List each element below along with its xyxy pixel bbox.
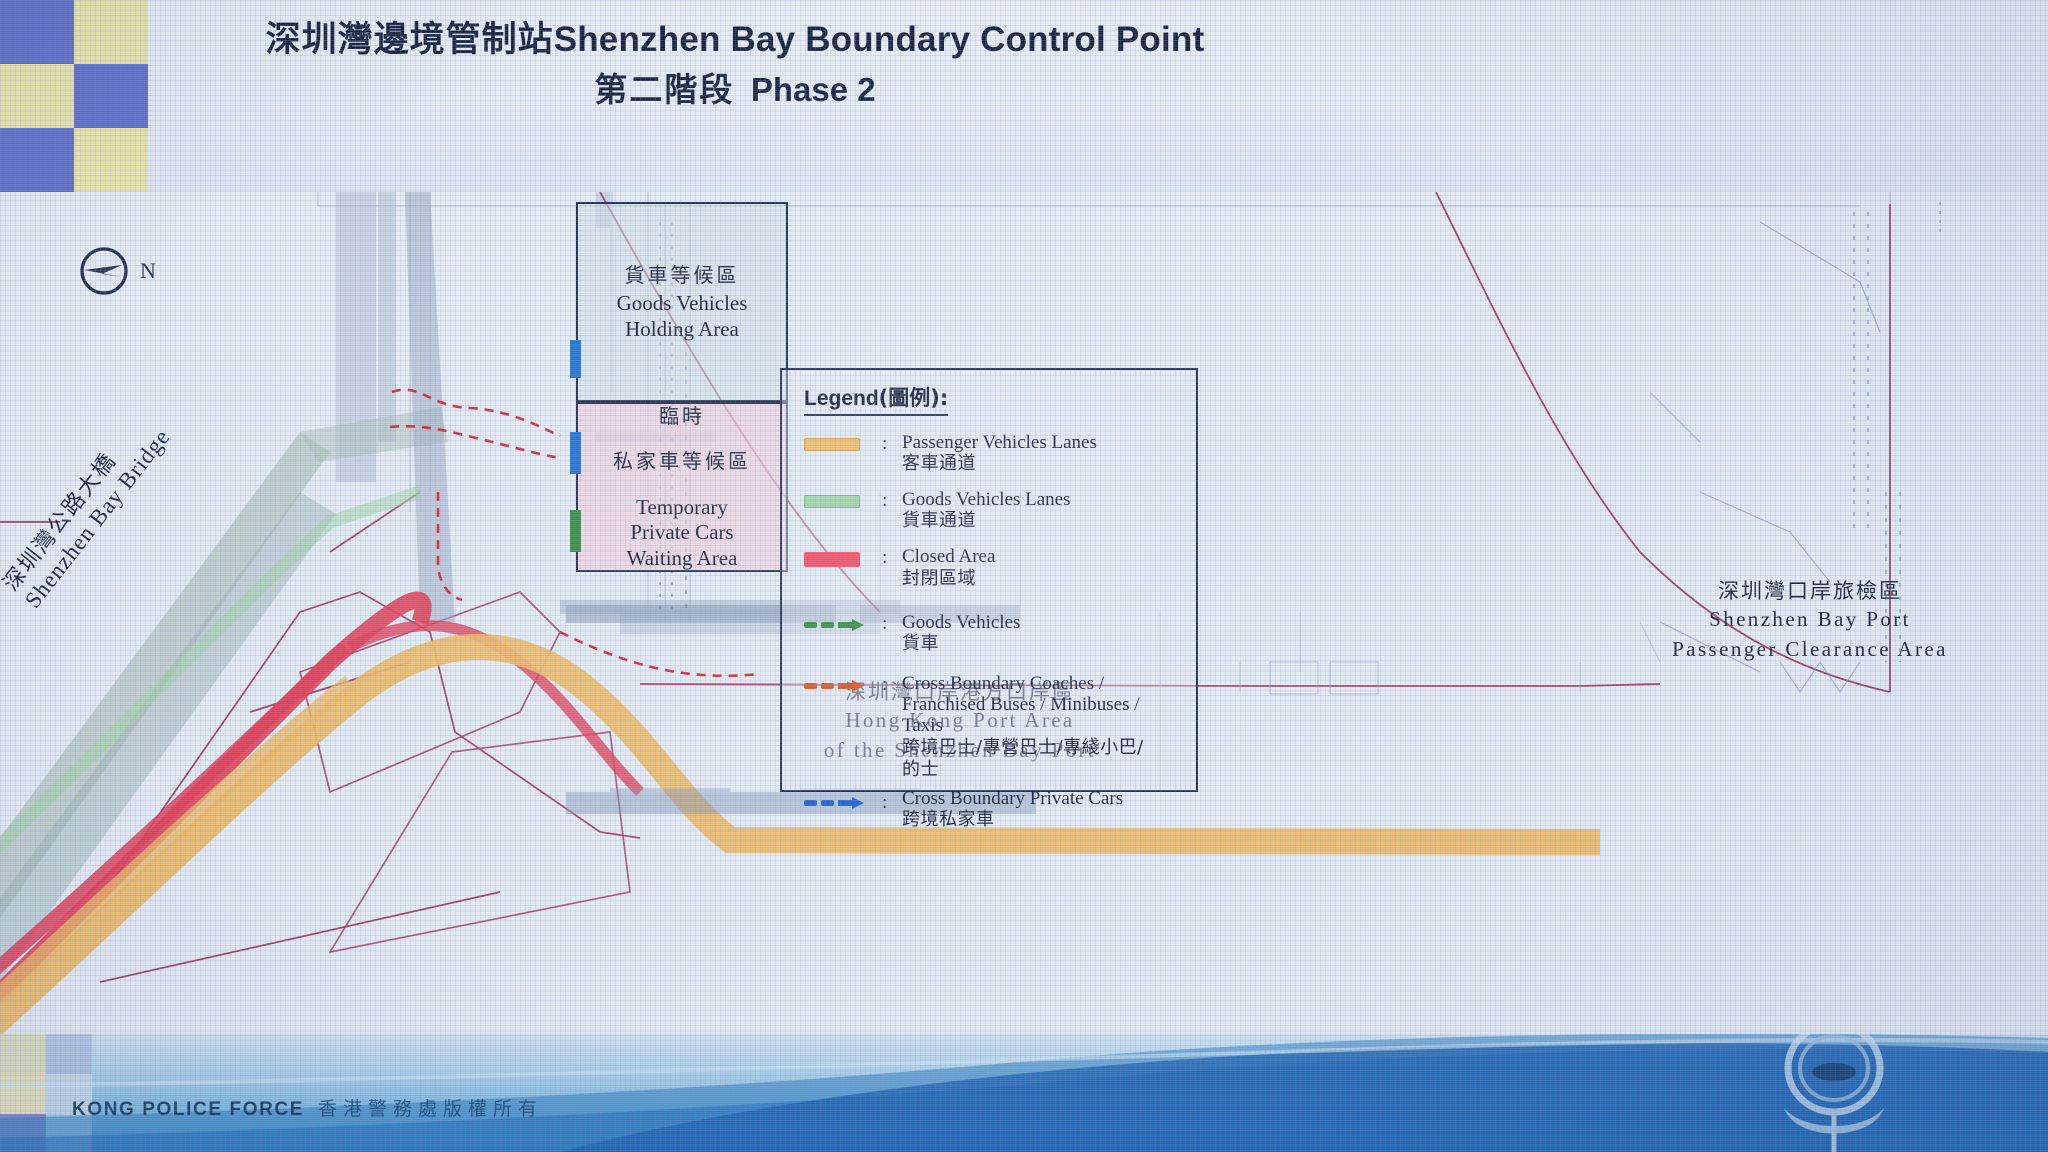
legend-box: Legend(圖例): : Passenger Vehicles Lanes 客… [780,368,1198,792]
legend-cn: 封閉區域 [902,568,1196,590]
legend-en: Goods Vehicles Lanes [902,489,1196,510]
legend-en: Goods Vehicles [902,612,1196,633]
szport-label-cn: 深圳灣口岸旅檢區 [1560,577,2048,605]
legend-item-cross-boundary-private-cars[interactable]: : Cross Boundary Private Cars 跨境私家車 [796,788,1196,831]
legend-colon: : [882,489,902,512]
legend-swatch-cell [796,489,882,508]
legend-cn: 貨車通道 [902,510,1196,532]
swatch-goods-lane [804,495,860,508]
gate-marker-blue-1 [570,340,581,378]
map-diagram: N 貨車等候區 Goods Vehicles Holding Area 臨時 私… [0,192,2048,1034]
swatch-passenger-lane [804,438,860,451]
legend-cn: 客車通道 [902,453,1196,475]
legend-swatch-cell [796,612,882,632]
legend-en-1: Cross Boundary Coaches / [902,673,1196,694]
legend-swatch-cell [796,546,882,567]
zone-goods-label-en-2: Holding Area [625,317,739,343]
legend-swatch-cell [796,432,882,451]
legend-cn: 跨境私家車 [902,809,1196,831]
legend-item-goods-vehicles-lanes[interactable]: : Goods Vehicles Lanes 貨車通道 [796,489,1196,532]
legend-text: Cross Boundary Private Cars 跨境私家車 [902,788,1196,831]
legend-swatch-cell [796,788,882,810]
legend-en-3: Taxis [902,715,1196,736]
legend-en: Passenger Vehicles Lanes [902,432,1196,453]
legend-cn-1: 跨境巴士/專營巴士/專綫小巴/ [902,737,1196,759]
arrow-icon-cross-boundary-private-cars [804,796,866,810]
legend-item-cross-boundary-coaches[interactable]: : Cross Boundary Coaches / Franchised Bu… [796,673,1196,781]
slide-canvas: 深圳灣邊境管制站Shenzhen Bay Boundary Control Po… [0,0,2048,1152]
legend-colon: : [882,432,902,455]
szport-label-en-2: Passenger Clearance Area [1560,635,2048,664]
header-band: 深圳灣邊境管制站Shenzhen Bay Boundary Control Po… [0,0,2048,192]
gate-marker-green-1 [570,510,581,552]
legend-colon: : [882,612,902,635]
legend-cn-2: 的士 [902,759,1196,781]
zone-goods-label-en-1: Goods Vehicles [617,291,748,317]
footer-wave-graphic [0,1034,2048,1152]
phase-english: Phase 2 [751,71,876,108]
police-crest-badge-icon [1744,1034,1924,1152]
zone-private-label-en-3: Waiting Area [627,546,738,572]
legend-text: Cross Boundary Coaches / Franchised Buse… [902,673,1196,781]
zone-private-label-cn-2: 私家車等候區 [613,448,751,475]
label-shenzhen-bay-port-passenger-clearance-area: 深圳灣口岸旅檢區 Shenzhen Bay Port Passenger Cle… [1560,577,2048,664]
legend-text: Passenger Vehicles Lanes 客車通道 [902,432,1196,475]
legend-title: Legend(圖例): [804,382,948,416]
legend-item-closed-area[interactable]: : Closed Area 封閉區域 [796,546,1196,589]
legend-item-goods-vehicles-arrow[interactable]: : Goods Vehicles 貨車 [796,612,1196,655]
legend-text: Goods Vehicles 貨車 [902,612,1196,655]
copyright-org-cn: 香港警務處版權所有 [318,1098,543,1120]
legend-title-cn: (圖例): [879,386,949,410]
legend-en-2: Franchised Buses / Minibuses / [902,694,1196,715]
gate-marker-blue-2 [570,432,581,474]
legend-text: Goods Vehicles Lanes 貨車通道 [902,489,1196,532]
arrow-icon-cross-boundary-coaches [804,679,866,693]
legend-text: Closed Area 封閉區域 [902,546,1196,589]
legend-title-en: Legend [804,387,879,410]
compass-label: N [140,258,156,284]
copyright-notice: KONG POLICE FORCE香港警務處版權所有 [72,1094,543,1121]
legend-colon: : [882,546,902,569]
compass-north-arrow-icon [78,244,134,298]
zone-goods-label-cn: 貨車等候區 [625,262,740,289]
title-english: Shenzhen Bay Boundary Control Point [554,20,1205,59]
legend-colon: : [882,788,902,814]
zone-temporary-private-cars-waiting-area[interactable]: 臨時 私家車等候區 Temporary Private Cars Waiting… [576,402,788,572]
legend-cn: 貨車 [902,633,1196,655]
phase-chinese: 第二階段 [594,70,734,109]
copyright-org-en: KONG POLICE FORCE [72,1099,304,1120]
zone-private-label-cn-1: 臨時 [659,403,705,430]
compass: N [78,244,156,298]
title-chinese: 深圳灣邊境管制站 [266,20,554,60]
legend-colon: : [882,673,902,696]
legend-item-passenger-vehicles-lanes[interactable]: : Passenger Vehicles Lanes 客車通道 [796,432,1196,475]
legend-en: Closed Area [902,546,1196,567]
zone-private-label-en-2: Private Cars [630,520,733,546]
page-title: 深圳灣邊境管制站Shenzhen Bay Boundary Control Po… [0,18,1470,112]
swatch-closed-area [804,552,860,567]
szport-label-en-1: Shenzhen Bay Port [1560,605,2048,634]
zone-private-label-en-1: Temporary [636,495,728,521]
arrow-icon-goods-vehicles [804,618,866,632]
footer-banner: KONG POLICE FORCE香港警務處版權所有 [0,1034,2048,1152]
legend-swatch-cell [796,673,882,693]
zone-goods-vehicles-holding-area[interactable]: 貨車等候區 Goods Vehicles Holding Area [576,202,788,402]
legend-rows: : Passenger Vehicles Lanes 客車通道 : Goods … [796,432,1196,831]
legend-en: Cross Boundary Private Cars [902,788,1196,809]
